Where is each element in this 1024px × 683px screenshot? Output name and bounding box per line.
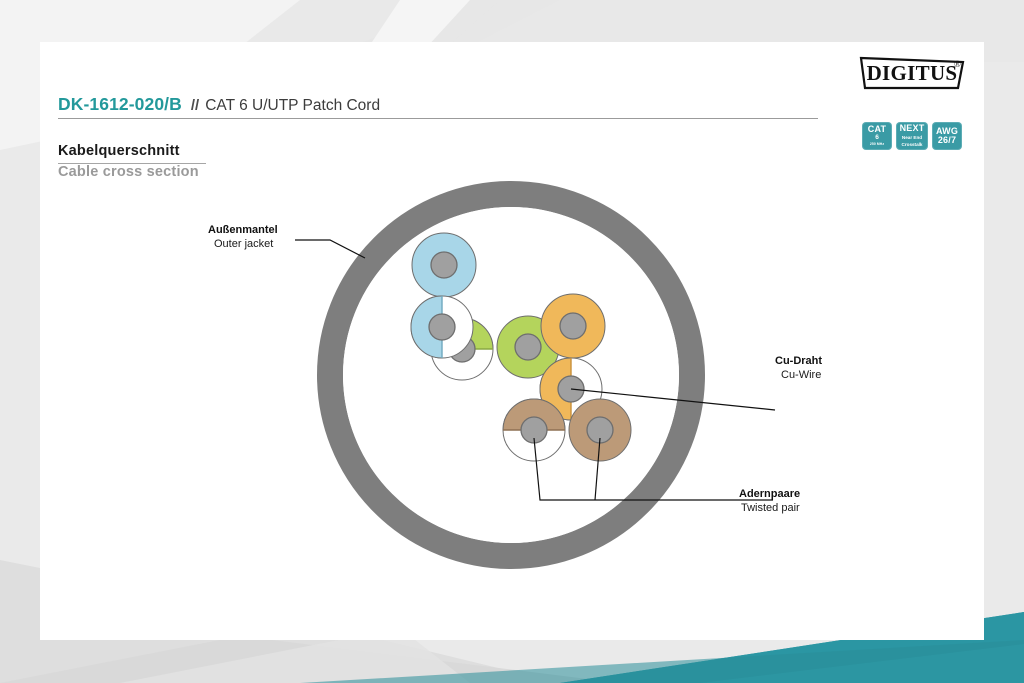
wire-brown-solid bbox=[569, 399, 631, 461]
annotation-cu-wire: Cu-Draht Cu-Wire bbox=[775, 355, 822, 383]
outer-jacket-ring bbox=[330, 194, 692, 556]
annotation-outer-jacket-de: Außenmantel bbox=[208, 224, 278, 238]
slide-canvas: DK-1612-020/B//CAT 6 U/UTP Patch Cord Ka… bbox=[0, 0, 1024, 683]
content-card: DK-1612-020/B//CAT 6 U/UTP Patch Cord Ka… bbox=[40, 42, 984, 640]
annotation-twisted-pair-en: Twisted pair bbox=[739, 502, 800, 516]
wire-brown-striped bbox=[503, 399, 565, 461]
annotation-outer-jacket: Außenmantel Outer jacket bbox=[208, 224, 278, 252]
wire-blue-solid bbox=[412, 233, 476, 297]
cable-cross-section-diagram bbox=[40, 42, 984, 640]
wire-orange-solid bbox=[541, 294, 605, 358]
annotation-twisted-pair-de: Adernpaare bbox=[739, 488, 800, 502]
annotation-outer-jacket-en: Outer jacket bbox=[208, 238, 278, 252]
annotation-cu-wire-de: Cu-Draht bbox=[775, 355, 822, 369]
wire-blue-striped bbox=[411, 296, 473, 358]
annotation-cu-wire-en: Cu-Wire bbox=[775, 369, 822, 383]
leader-outer-jacket bbox=[295, 240, 365, 258]
annotation-twisted-pair: Adernpaare Twisted pair bbox=[739, 488, 800, 516]
